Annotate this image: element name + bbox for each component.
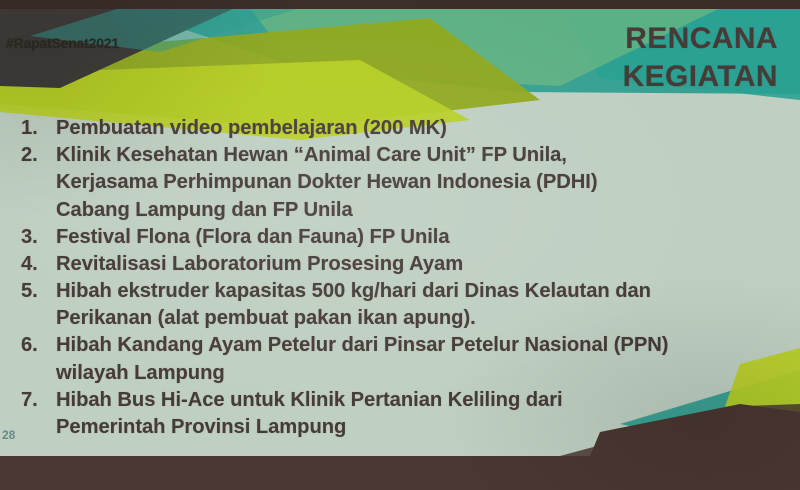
list-item-line: Hibah Bus Hi-Ace untuk Klinik Pertanian …	[56, 387, 778, 414]
agenda-list: 1. Pembuatan video pembelajaran (200 MK)…	[18, 115, 778, 441]
list-item: 1. Pembuatan video pembelajaran (200 MK)	[18, 115, 778, 142]
list-item-text: Klinik Kesehatan Hewan “Animal Care Unit…	[56, 142, 778, 224]
list-item: 7. Hibah Bus Hi-Ace untuk Klinik Pertani…	[18, 387, 778, 441]
list-item-line: wilayah Lampung	[56, 360, 778, 387]
list-item-line: Perikanan (alat pembuat pakan ikan apung…	[56, 305, 778, 332]
hashtag-label: #RapatSenat2021	[6, 35, 119, 51]
page-title: RENCANA KEGIATAN	[458, 20, 778, 97]
list-item-line: Kerjasama Perhimpunan Dokter Hewan Indon…	[56, 169, 778, 196]
slide-surface: #RapatSenat2021 RENCANA KEGIATAN 1. Pemb…	[0, 8, 800, 456]
list-item-number: 2.	[18, 142, 56, 169]
list-item: 2. Klinik Kesehatan Hewan “Animal Care U…	[18, 142, 778, 224]
list-item-number: 6.	[18, 332, 56, 359]
list-item-text: Festival Flona (Flora dan Fauna) FP Unil…	[56, 224, 778, 251]
list-item: 5. Hibah ekstruder kapasitas 500 kg/hari…	[18, 278, 778, 332]
list-item-number: 1.	[18, 115, 56, 142]
list-item-line: Hibah ekstruder kapasitas 500 kg/hari da…	[56, 278, 778, 305]
list-item-number: 5.	[18, 278, 56, 305]
list-item-text: Hibah Kandang Ayam Petelur dari Pinsar P…	[56, 332, 778, 386]
title-line-1: RENCANA	[458, 20, 778, 58]
list-item-line: Hibah Kandang Ayam Petelur dari Pinsar P…	[56, 332, 778, 359]
list-item-number: 7.	[18, 387, 56, 414]
list-item-line: Festival Flona (Flora dan Fauna) FP Unil…	[56, 224, 778, 251]
list-item: 4. Revitalisasi Laboratorium Prosesing A…	[18, 251, 778, 278]
title-line-2: KEGIATAN	[458, 58, 778, 96]
list-item-text: Revitalisasi Laboratorium Prosesing Ayam	[56, 251, 778, 278]
list-item-line: Pembuatan video pembelajaran (200 MK)	[56, 115, 778, 142]
slide-page-number: 28	[2, 428, 15, 442]
list-item-line: Cabang Lampung dan FP Unila	[56, 197, 778, 224]
list-item-line: Pemerintah Provinsi Lampung	[56, 414, 778, 441]
list-item-text: Hibah Bus Hi-Ace untuk Klinik Pertanian …	[56, 387, 778, 441]
list-item-number: 4.	[18, 251, 56, 278]
list-item-text: Hibah ekstruder kapasitas 500 kg/hari da…	[56, 278, 778, 332]
frame-band-top	[0, 0, 800, 9]
frame-band-bottom	[0, 456, 800, 490]
list-item-line: Revitalisasi Laboratorium Prosesing Ayam	[56, 251, 778, 278]
list-item-text: Pembuatan video pembelajaran (200 MK)	[56, 115, 778, 142]
list-item-number: 3.	[18, 224, 56, 251]
list-item: 6. Hibah Kandang Ayam Petelur dari Pinsa…	[18, 332, 778, 386]
projected-slide-photo: #RapatSenat2021 RENCANA KEGIATAN 1. Pemb…	[0, 0, 800, 490]
list-item-line: Klinik Kesehatan Hewan “Animal Care Unit…	[56, 142, 778, 169]
list-item: 3. Festival Flona (Flora dan Fauna) FP U…	[18, 224, 778, 251]
